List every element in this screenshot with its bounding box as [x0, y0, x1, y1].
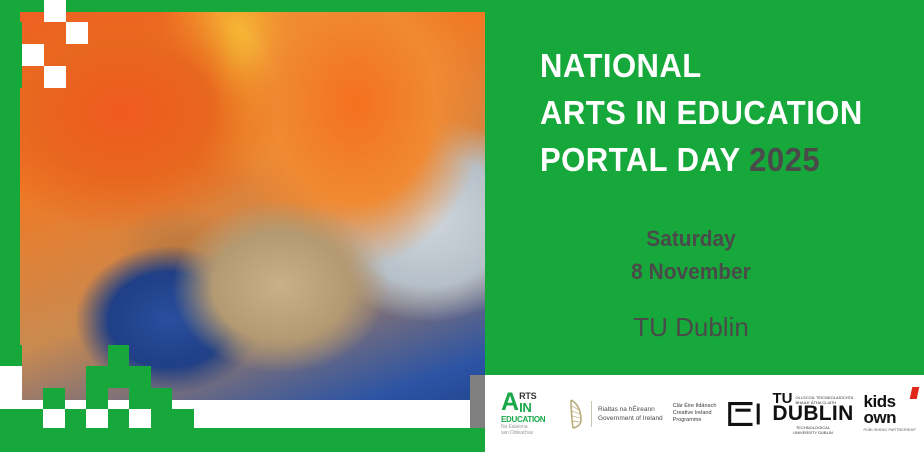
- checker-cell: [0, 409, 22, 431]
- checker-cell: [86, 345, 108, 367]
- checker-cell: [65, 431, 87, 452]
- aie-letter-a: A: [501, 391, 518, 413]
- ci-line-2: Creative Ireland: [673, 410, 717, 417]
- checker-cell: [66, 0, 88, 22]
- checker-cell: [151, 388, 173, 410]
- checker-cell: [22, 388, 44, 410]
- checker-cell: [86, 388, 108, 410]
- checker-cell: [22, 0, 44, 22]
- aie-sub-line-2: san Oideachas: [501, 430, 533, 436]
- checker-cell: [129, 366, 151, 388]
- checker-cell: [151, 366, 173, 388]
- checker-cell: [151, 409, 173, 431]
- checker-cell: [43, 431, 65, 452]
- checker-cell: [151, 431, 173, 452]
- checker-cell: [0, 431, 22, 452]
- checker-cell: [172, 366, 194, 388]
- checker-cell: [43, 388, 65, 410]
- kids-own-apostrophe-icon: [910, 387, 920, 399]
- checker-cell: [22, 44, 44, 66]
- aie-stack: RTS IN: [519, 392, 536, 414]
- checker-cell: [43, 345, 65, 367]
- decorative-checker-bottom-left: [0, 345, 194, 452]
- checker-cell: [108, 388, 130, 410]
- gov-english-text: Government of Ireland: [598, 414, 663, 423]
- checker-cell: [22, 66, 44, 88]
- checker-cell: [66, 66, 88, 88]
- checker-cell: [44, 66, 66, 88]
- ci-monogram-icon: [724, 401, 762, 427]
- kids-own-subtitle: PUBLISHING PARTNERSHIP: [864, 428, 916, 433]
- checker-cell: [43, 366, 65, 388]
- event-venue: TU Dublin: [500, 310, 882, 344]
- checker-cell: [66, 22, 88, 44]
- logo-arts-in-education: A RTS IN EDUCATION Na Ealaíona san Oidea…: [501, 391, 557, 436]
- headline-portal-day: PORTAL DAY: [540, 141, 740, 178]
- checker-cell: [44, 0, 66, 22]
- headline-line-3: PORTAL DAY 2025: [540, 136, 897, 183]
- headline-year: 2025: [749, 141, 820, 178]
- checker-cell: [108, 366, 130, 388]
- creative-ireland-text: Clár Éire Ildánach Creative Ireland Prog…: [673, 403, 717, 424]
- checker-cell: [129, 388, 151, 410]
- checker-cell: [22, 409, 44, 431]
- checker-cell: [0, 22, 22, 44]
- gov-text: Rialtas na hÉireann Government of Irelan…: [598, 405, 663, 423]
- checker-cell: [0, 345, 22, 367]
- page-title: NATIONAL ARTS IN EDUCATION PORTAL DAY 20…: [540, 42, 920, 183]
- aie-wordmark: A RTS IN: [501, 391, 536, 414]
- harp-icon: [567, 397, 585, 431]
- checker-cell: [44, 44, 66, 66]
- partner-logo-band: A RTS IN EDUCATION Na Ealaíona san Oidea…: [485, 375, 924, 452]
- checker-cell: [0, 44, 22, 66]
- checker-cell: [65, 366, 87, 388]
- headline-line-2: ARTS IN EDUCATION: [540, 89, 897, 136]
- checker-cell: [86, 366, 108, 388]
- ci-line-3: Programme: [673, 417, 717, 424]
- ci-line-1: Clár Éire Ildánach: [673, 403, 717, 410]
- checker-cell: [108, 409, 130, 431]
- checker-cell: [172, 409, 194, 431]
- aie-in-text: IN: [519, 401, 536, 414]
- checker-cell: [22, 22, 44, 44]
- decorative-checker-top-left: [0, 0, 88, 88]
- photo-grey-strip: [470, 375, 485, 428]
- headline-line-1: NATIONAL: [540, 42, 897, 89]
- gov-irish-text: Rialtas na hÉireann: [598, 405, 663, 414]
- checker-cell: [0, 366, 22, 388]
- aie-education-text: EDUCATION: [501, 415, 545, 424]
- logo-kids-own: kids own PUBLISHING PARTNERSHIP: [864, 394, 916, 433]
- tu-dublin-word: DUBLIN: [772, 404, 853, 424]
- gov-divider: [591, 401, 592, 427]
- event-day: Saturday: [510, 222, 873, 255]
- tu-english-tag: TECHNOLOGICAL UNIVERSITY DUBLIN: [793, 425, 833, 435]
- checker-cell: [66, 44, 88, 66]
- checker-cell: [0, 388, 22, 410]
- checker-cell: [22, 431, 44, 452]
- event-date: 8 November: [510, 255, 873, 288]
- checker-cell: [129, 409, 151, 431]
- checker-cell: [108, 431, 130, 452]
- kids-own-own: own: [864, 410, 897, 426]
- checker-cell: [0, 0, 22, 22]
- logo-tu-dublin: TU OLLSCOIL TEICNEOLAÍOCHTA BHAILE ÁTHA …: [772, 392, 853, 435]
- checker-cell: [108, 345, 130, 367]
- checker-cell: [172, 345, 194, 367]
- checker-cell: [172, 388, 194, 410]
- checker-cell: [22, 345, 44, 367]
- checker-cell: [151, 345, 173, 367]
- checker-cell: [86, 409, 108, 431]
- checker-cell: [129, 431, 151, 452]
- checker-cell: [172, 431, 194, 452]
- checker-cell: [22, 366, 44, 388]
- checker-cell: [65, 409, 87, 431]
- tu-bottom-line-2: UNIVERSITY DUBLIN: [793, 430, 833, 435]
- checker-cell: [65, 388, 87, 410]
- checker-cell: [43, 409, 65, 431]
- event-details: Saturday 8 November TU Dublin: [500, 222, 924, 344]
- checker-cell: [44, 22, 66, 44]
- checker-cell: [65, 345, 87, 367]
- checker-cell: [129, 345, 151, 367]
- checker-cell: [0, 66, 22, 88]
- checker-cell: [86, 431, 108, 452]
- logo-government-of-ireland: Rialtas na hÉireann Government of Irelan…: [567, 397, 663, 431]
- logo-creative-ireland: Clár Éire Ildánach Creative Ireland Prog…: [673, 401, 763, 427]
